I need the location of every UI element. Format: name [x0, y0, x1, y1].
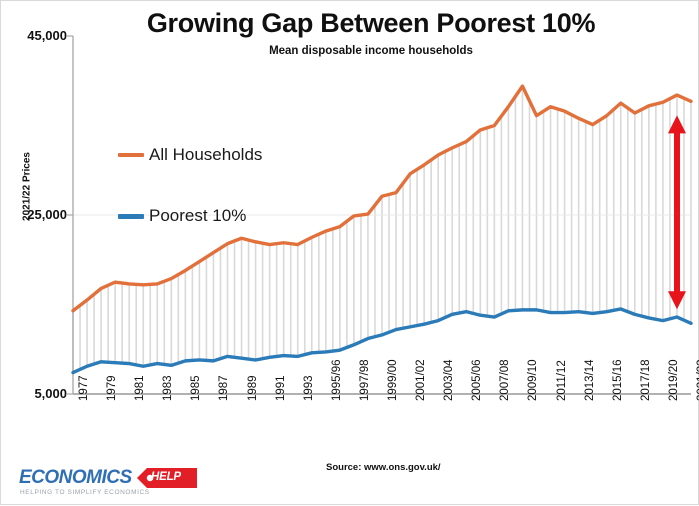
legend-item-all-households[interactable]: All Households	[118, 145, 262, 165]
economics-help-logo[interactable]: ECONOMICS HELP HELPING TO SIMPLIFY ECONO…	[19, 467, 199, 501]
source-note: Source: www.ons.gov.uk/	[326, 462, 441, 473]
legend-item-poorest-10[interactable]: Poorest 10%	[118, 206, 246, 226]
chart-frame: Growing Gap Between Poorest 10% Mean dis…	[0, 0, 699, 505]
plot-area	[1, 1, 699, 506]
legend-label-all-households: All Households	[149, 145, 262, 165]
legend-swatch-all-households	[118, 153, 144, 157]
legend-swatch-poorest-10	[118, 214, 144, 219]
logo-tagline: HELPING TO SIMPLIFY ECONOMICS	[20, 489, 150, 496]
legend-label-poorest-10: Poorest 10%	[149, 206, 246, 226]
droplines-group	[73, 86, 691, 372]
logo-badge-text: HELP	[151, 471, 181, 483]
logo-wordmark: ECONOMICS	[19, 467, 132, 489]
